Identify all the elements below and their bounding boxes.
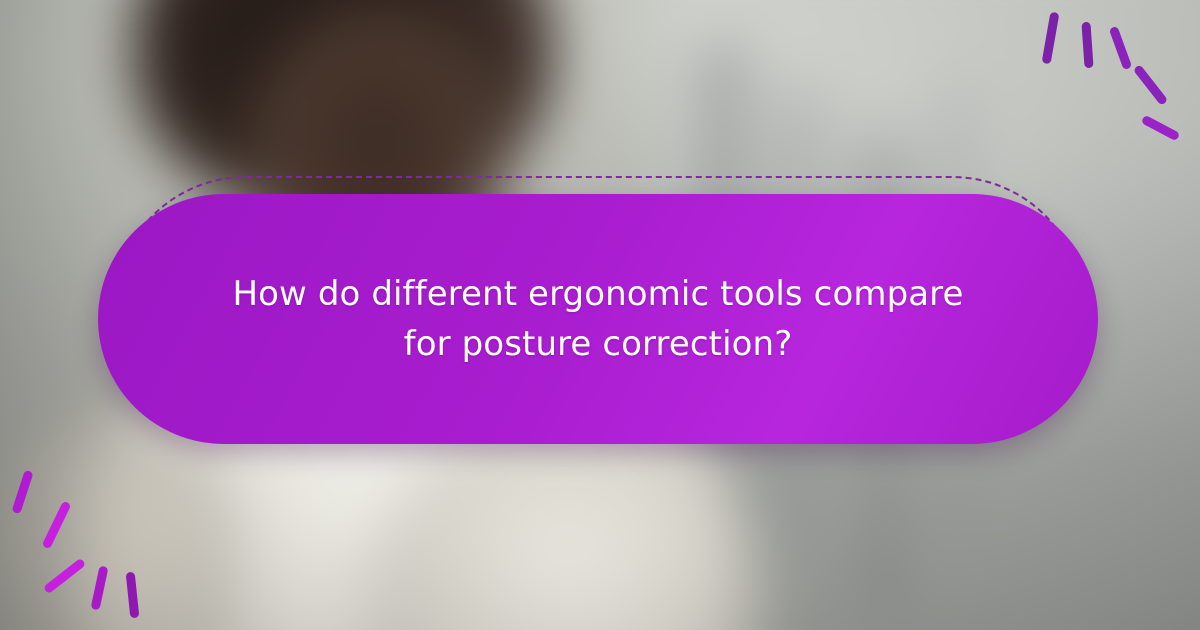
card-question-line-2: for posture correction? [404,324,793,364]
card-body: How do different ergonomic tools compare… [98,194,1098,444]
share-card-canvas: How do different ergonomic tools compare… [0,0,1200,630]
card-question-text: How do different ergonomic tools compare… [198,269,998,369]
card-question-line-1: How do different ergonomic tools compare [232,274,963,314]
question-card: How do different ergonomic tools compare… [98,176,1102,448]
